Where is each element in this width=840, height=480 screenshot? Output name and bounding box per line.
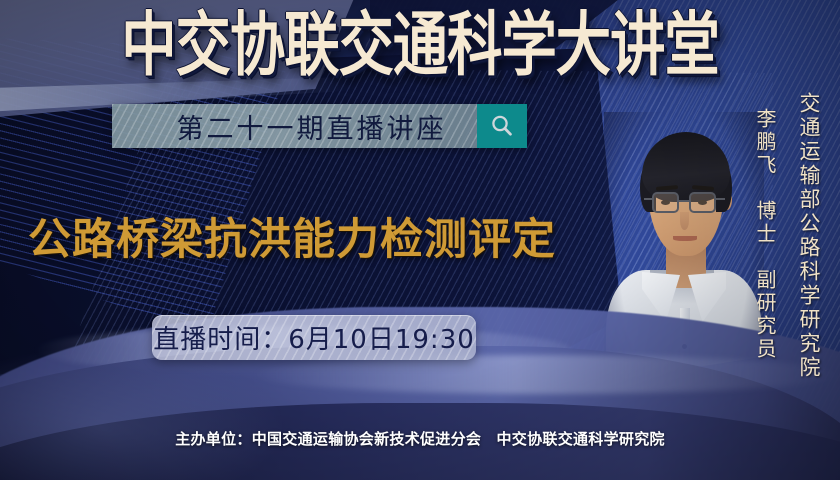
page-title: 中交协联交通科学大讲堂 — [13, 10, 828, 83]
search-icon — [489, 113, 515, 139]
speaker-name-and-titles: 李鹏飞 博士 副研究员 — [751, 108, 780, 361]
episode-label: 第二十一期直播讲座 — [143, 107, 447, 146]
lecture-title: 公路桥梁抗洪能力检测评定 — [28, 205, 556, 267]
episode-bar: 第二十一期直播讲座 — [112, 104, 527, 148]
organizers-footer: 主办单位：中国交通运输协会新技术促进分会 中交协联交通科学研究院 — [0, 428, 840, 449]
speaker-organization: 交通运输部公路科学研究院 — [794, 92, 824, 380]
episode-label-box: 第二十一期直播讲座 — [112, 104, 477, 148]
live-lecture-poster: 中交协联交通科学大讲堂 第二十一期直播讲座 公路桥梁抗洪能力检测评定 直播时间：… — [0, 0, 840, 480]
live-time-label: 直播时间：6月10日19:30 — [153, 319, 475, 356]
live-time-badge: 直播时间：6月10日19:30 — [152, 315, 476, 360]
search-button[interactable] — [477, 104, 527, 148]
